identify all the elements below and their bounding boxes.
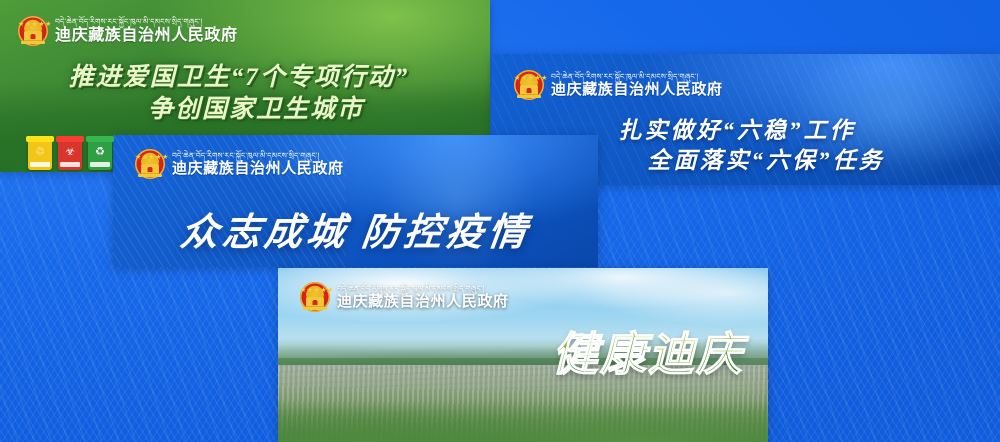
healthy-diqing-slogan-line1: 健康迪庆 [552,332,744,378]
recyclable-bin-label [30,162,50,167]
foreground-field-layer [278,400,768,442]
gov-header-six-stability: ★★★★★ བདེ་ཆེན་བོད་རིགས་རང་སྐྱོང་ཁུལ་མི་ད… [514,70,723,100]
waste-bins-group: ♲ ☣ ♻ [28,140,112,170]
emblem-gate [520,85,538,94]
healthy-diqing-slogan: 健康迪庆 [552,332,744,378]
emblem-base [303,307,327,310]
gov-header-healthy-diqing: ★★★★★ བདེ་ཆེན་བོད་རིགས་རང་སྐྱོང་ཁུལ་མི་ད… [300,282,509,312]
emblem-stars: ★★★★★ [514,75,544,83]
gov-chinese-name: 迪庆藏族自治州人民政府 [551,82,723,97]
national-emblem-icon: ★★★★★ [300,282,330,312]
health-city-slogan-line1: 推进爱国卫生“7个专项行动” [0,62,478,94]
six-stability-slogan: 扎实做好“六稳”工作 全面落实“六保”任务 [492,116,982,177]
gov-header-health-city: ★★★★★ བདེ་ཆེན་བོད་རིགས་རང་སྐྱོང་ཁུལ་མི་ད… [18,16,238,46]
health-city-slogan-line2: 争创国家卫生城市 [0,94,478,126]
gov-tibetan-name: བདེ་ཆེན་བོད་རིགས་རང་སྐྱོང་ཁུལ་མི་དམངས་སྲ… [55,18,238,26]
hazardous-bin-label [60,162,80,167]
other-waste-bin-glyph: ♻ [88,146,112,158]
emblem-base [138,174,162,177]
emblem-gate [141,164,159,173]
national-emblem-icon: ★★★★★ [18,16,48,46]
emblem-stars: ★★★★★ [300,287,330,295]
six-stability-slogan-line1: 扎实做好“六稳”工作 [492,116,982,146]
emblem-gate [306,297,324,306]
epidemic-slogan: 众志成城 防控疫情 [113,201,598,256]
emblem-base [517,95,541,98]
gov-chinese-name: 迪庆藏族自治州人民政府 [337,294,509,309]
health-city-slogan: 推进爱国卫生“7个专项行动” 争创国家卫生城市 [0,62,478,125]
recyclable-bin-glyph: ♲ [28,146,52,158]
emblem-base [21,41,45,44]
banner-healthy-diqing[interactable]: ★★★★★ བདེ་ཆེན་བོད་རིགས་རང་སྐྱོང་ཁུལ་མི་ད… [278,268,768,442]
gov-chinese-name: 迪庆藏族自治州人民政府 [172,161,344,176]
gov-chinese-name: 迪庆藏族自治州人民政府 [55,28,238,44]
other-waste-bin-label [90,162,110,167]
emblem-stars: ★★★★★ [18,21,48,29]
gov-tibetan-name: བདེ་ཆེན་བོད་རིགས་རང་སྐྱོང་ཁུལ་མི་དམངས་སྲ… [172,152,344,160]
banner-six-stability[interactable]: ★★★★★ བདེ་ཆེན་བོད་རིགས་རང་སྐྱོང་ཁུལ་མི་ད… [492,54,1000,185]
banner-collage-stage: ★★★★★ བདེ་ཆེན་བོད་རིགས་རང་སྐྱོང་ཁུལ་མི་ད… [0,0,1000,442]
gov-header-epidemic: ★★★★★ བདེ་ཆེན་བོད་རིགས་རང་སྐྱོང་ཁུལ་མི་ད… [135,149,344,179]
national-emblem-icon: ★★★★★ [514,70,544,100]
six-stability-slogan-line2: 全面落实“六保”任务 [492,146,982,176]
hazardous-waste-bin-icon: ☣ [58,140,82,170]
other-waste-bin-icon: ♻ [88,140,112,170]
gov-tibetan-name: བདེ་ཆེན་བོད་རིགས་རང་སྐྱོང་ཁུལ་མི་དམངས་སྲ… [551,73,723,81]
recyclable-bin-icon: ♲ [28,140,52,170]
hazardous-bin-glyph: ☣ [58,146,82,158]
emblem-stars: ★★★★★ [135,154,165,162]
emblem-gate [24,31,42,40]
gov-tibetan-name: བདེ་ཆེན་བོད་རིགས་རང་སྐྱོང་ཁུལ་མི་དམངས་སྲ… [337,285,509,293]
national-emblem-icon: ★★★★★ [135,149,165,179]
epidemic-slogan-line1: 众志成城 防控疫情 [177,201,533,256]
